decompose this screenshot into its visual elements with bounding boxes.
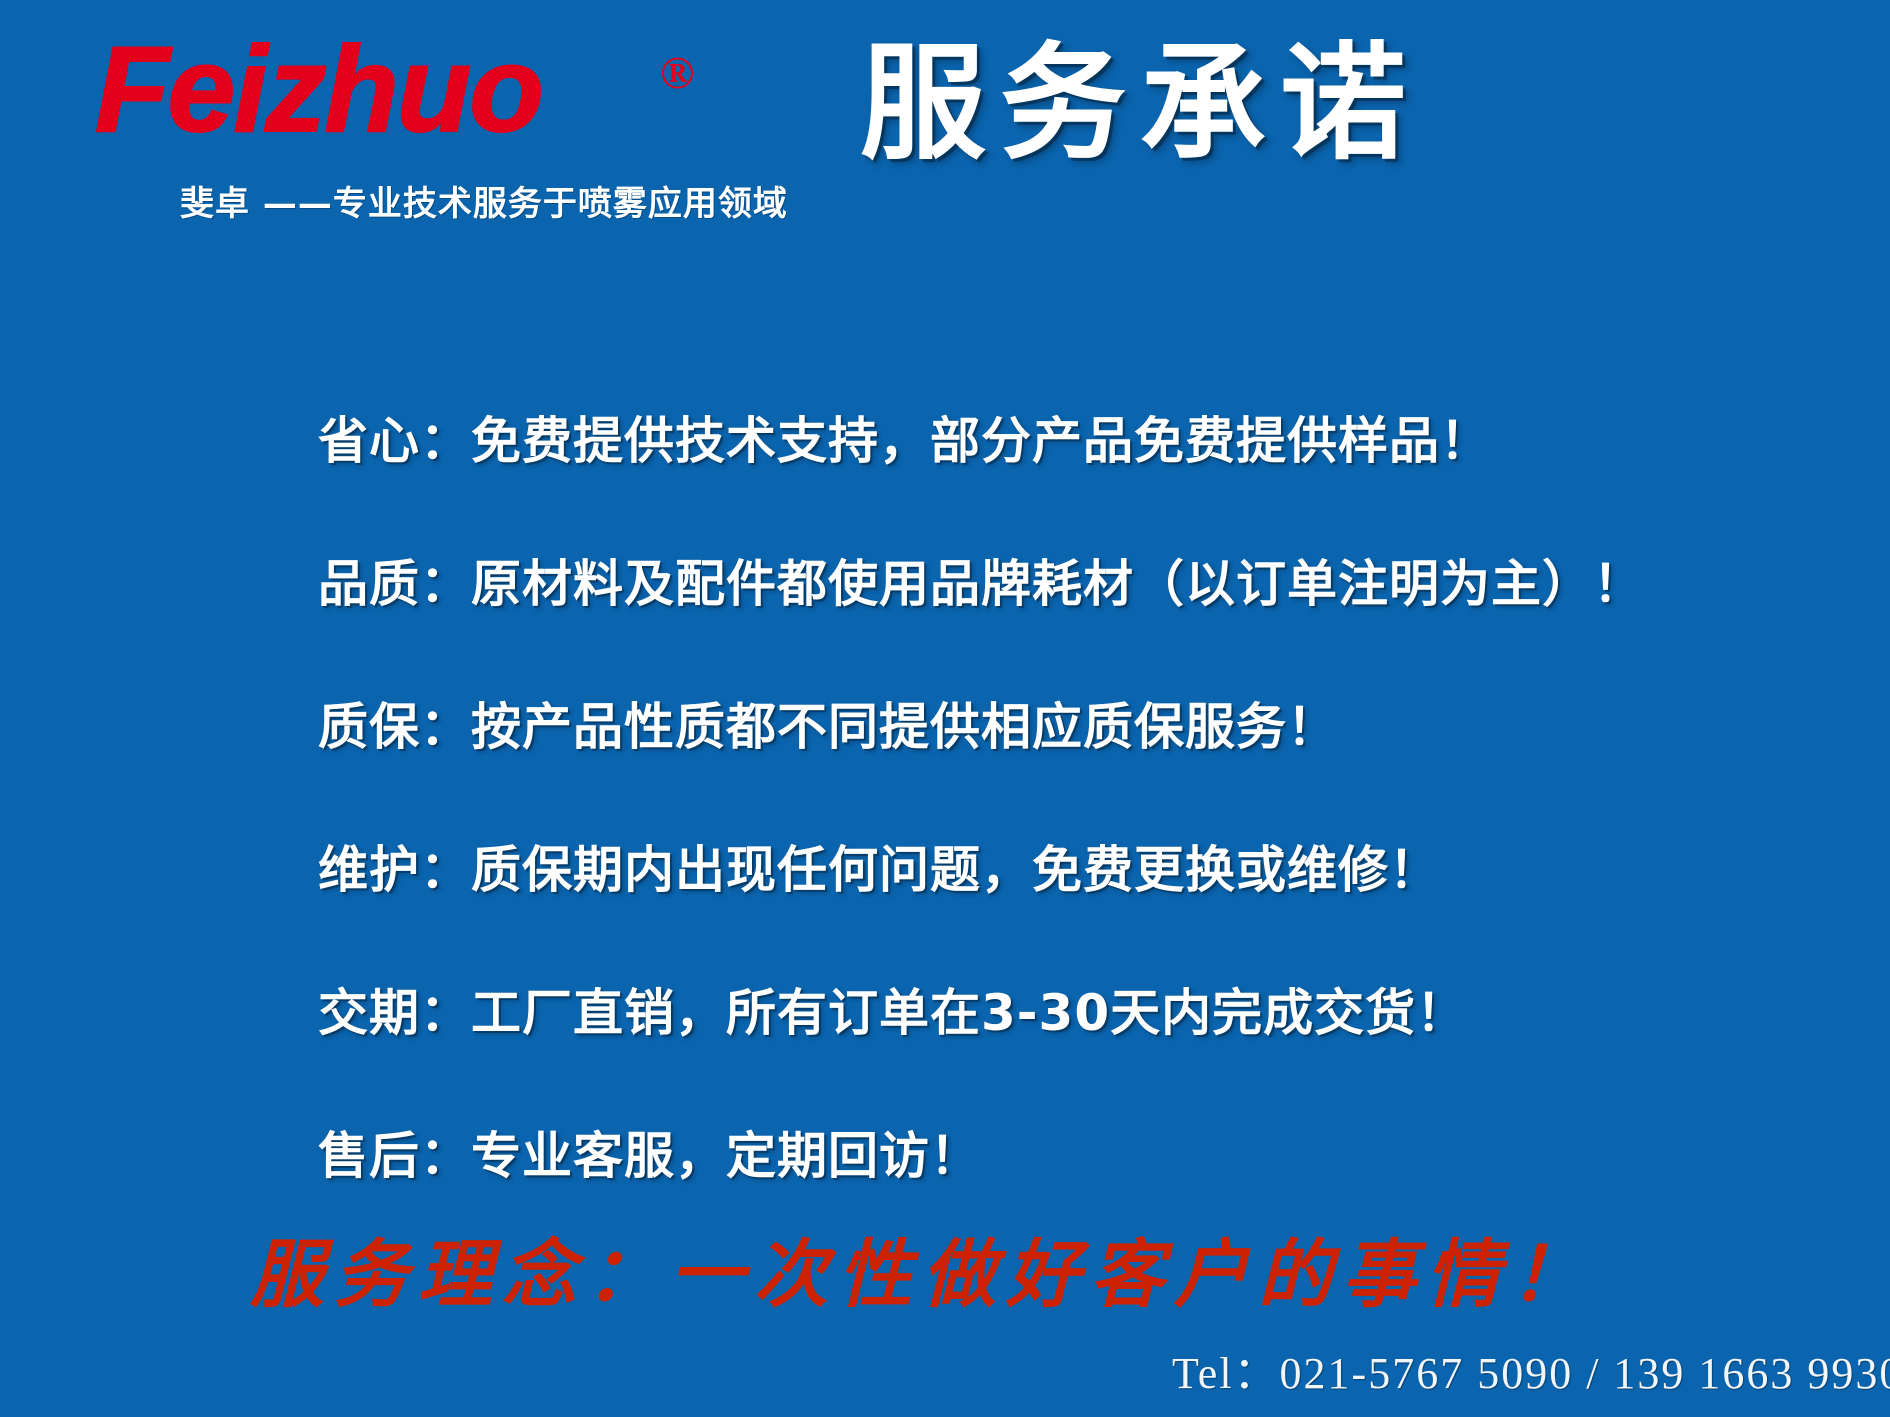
list-item: 质保：按产品性质都不同提供相应质保服务！ bbox=[318, 656, 1798, 799]
list-item: 维护：质保期内出现任何问题，免费更换或维修！ bbox=[318, 799, 1798, 942]
commitment-text: 质保：按产品性质都不同提供相应质保服务！ bbox=[318, 700, 1338, 755]
company-logo: Feizhuo ® 斐卓 ——专业技术服务于喷雾应用领域 bbox=[95, 28, 735, 218]
list-item: 品质：原材料及配件都使用品牌耗材（以订单注明为主）！ bbox=[318, 513, 1798, 656]
registered-trademark-icon: ® bbox=[660, 50, 694, 96]
page-title: 服务承诺 bbox=[860, 38, 1420, 170]
logo-wordmark: Feizhuo bbox=[95, 28, 735, 150]
list-item: 省心：免费提供技术支持，部分产品免费提供样品！ bbox=[318, 370, 1798, 513]
commitment-text: 品质：原材料及配件都使用品牌耗材（以订单注明为主）！ bbox=[318, 557, 1644, 612]
header: Feizhuo ® 斐卓 ——专业技术服务于喷雾应用领域 服务承诺 bbox=[0, 0, 1890, 250]
logo-tagline: 斐卓 ——专业技术服务于喷雾应用领域 bbox=[180, 176, 788, 225]
list-item: 售后：专业客服，定期回访！ bbox=[318, 1085, 1798, 1228]
service-commitment-slide: Feizhuo ® 斐卓 ——专业技术服务于喷雾应用领域 服务承诺 省心：免费提… bbox=[0, 0, 1890, 1417]
commitment-text: 省心：免费提供技术支持，部分产品免费提供样品！ bbox=[318, 414, 1491, 469]
commitment-text: 交期：工厂直销，所有订单在3-30天内完成交货！ bbox=[318, 986, 1467, 1041]
commitment-text: 售后：专业客服，定期回访！ bbox=[318, 1129, 981, 1184]
contact-phone: Tel：021-5767 5090 / 139 1663 9930 bbox=[1172, 1352, 1890, 1396]
service-philosophy-slogan: 服务理念：一次性做好客户的事情！ bbox=[250, 1238, 1594, 1312]
commitment-text: 维护：质保期内出现任何问题，免费更换或维修！ bbox=[318, 843, 1440, 898]
list-item: 交期：工厂直销，所有订单在3-30天内完成交货！ bbox=[318, 942, 1798, 1085]
commitments-list: 省心：免费提供技术支持，部分产品免费提供样品！ 品质：原材料及配件都使用品牌耗材… bbox=[318, 370, 1798, 1228]
